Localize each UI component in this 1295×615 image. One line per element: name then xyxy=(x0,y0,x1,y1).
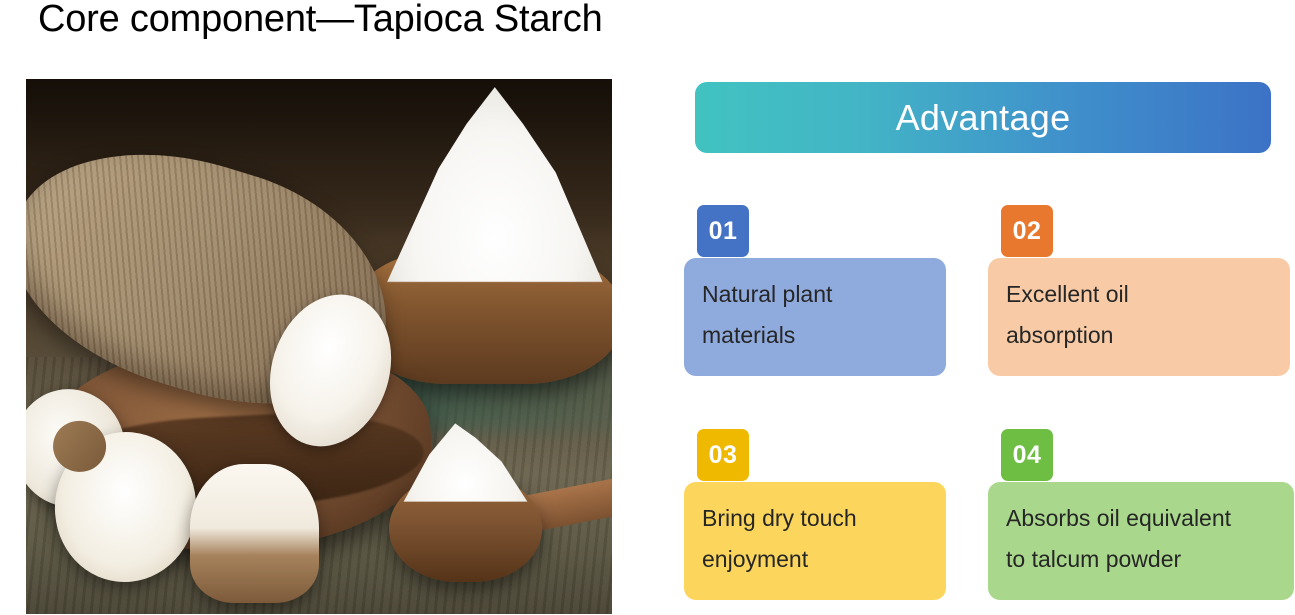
card-text-02: Excellent oil absorption xyxy=(1006,274,1280,356)
card-body-01: Natural plant materials xyxy=(684,258,946,376)
card-number-badge-04: 04 xyxy=(1001,429,1053,481)
photo-background xyxy=(26,79,612,614)
card-body-02: Excellent oil absorption xyxy=(988,258,1290,376)
starch-mound xyxy=(378,79,612,282)
card-number-badge-02: 02 xyxy=(1001,205,1053,257)
cassava-chunk-front xyxy=(190,464,319,603)
card-body-04: Absorbs oil equivalent to talcum powder xyxy=(988,482,1294,600)
card-body-03: Bring dry touch enjoyment xyxy=(684,482,946,600)
card-number-badge-03: 03 xyxy=(697,429,749,481)
card-text-01: Natural plant materials xyxy=(702,274,936,356)
product-photo xyxy=(26,79,612,614)
advantage-banner: Advantage xyxy=(695,82,1271,153)
card-number-badge-01: 01 xyxy=(697,205,749,257)
card-text-04: Absorbs oil equivalent to talcum powder xyxy=(1006,498,1284,580)
card-text-03: Bring dry touch enjoyment xyxy=(702,498,936,580)
page-title: Core component—Tapioca Starch xyxy=(38,0,603,41)
advantage-heading: Advantage xyxy=(896,97,1071,139)
advantage-card-grid: 01 Natural plant materials 02 Excellent … xyxy=(684,205,1290,615)
